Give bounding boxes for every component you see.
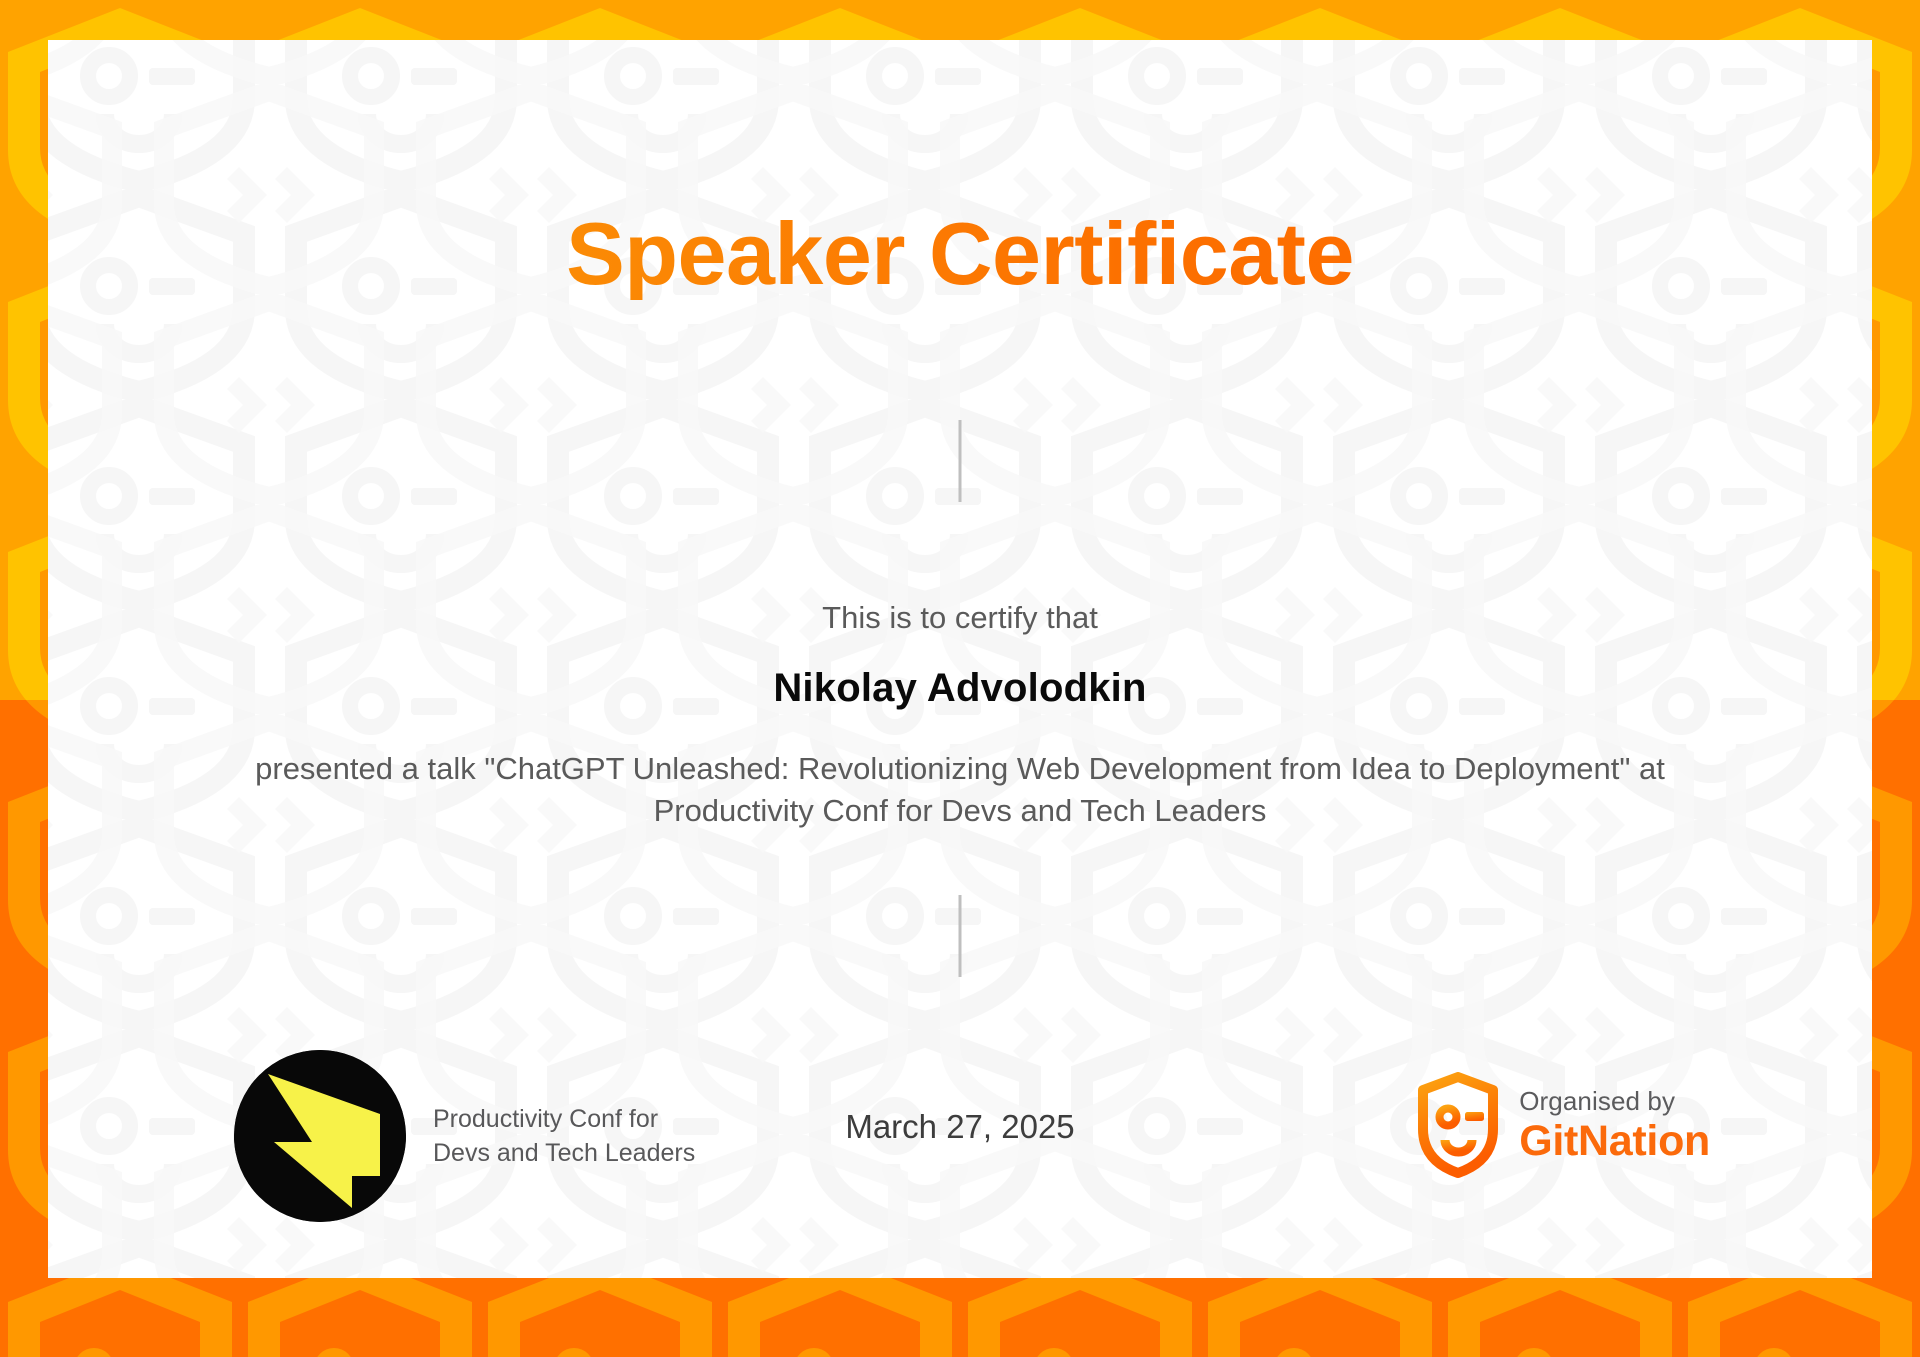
certificate-footer: Productivity Conf for Devs and Tech Lead… [48,1050,1872,1210]
divider-bottom [959,895,962,977]
certificate-card: Speaker Certificate This is to certify t… [48,40,1872,1278]
certify-statement: This is to certify that [48,600,1872,636]
speaker-certificate: Speaker Certificate This is to certify t… [0,0,1920,1357]
divider-top [959,420,962,502]
page-title: Speaker Certificate [48,208,1872,300]
organiser-identity: Organised by GitNation [1417,1072,1710,1178]
organised-by-label: Organised by [1519,1086,1710,1117]
gitnation-shield-face-icon [1417,1072,1499,1178]
recipient-name: Nikolay Advolodkin [48,666,1872,711]
talk-description: presented a talk "ChatGPT Unleashed: Rev… [235,748,1685,831]
organiser-name: GitNation [1519,1119,1710,1164]
